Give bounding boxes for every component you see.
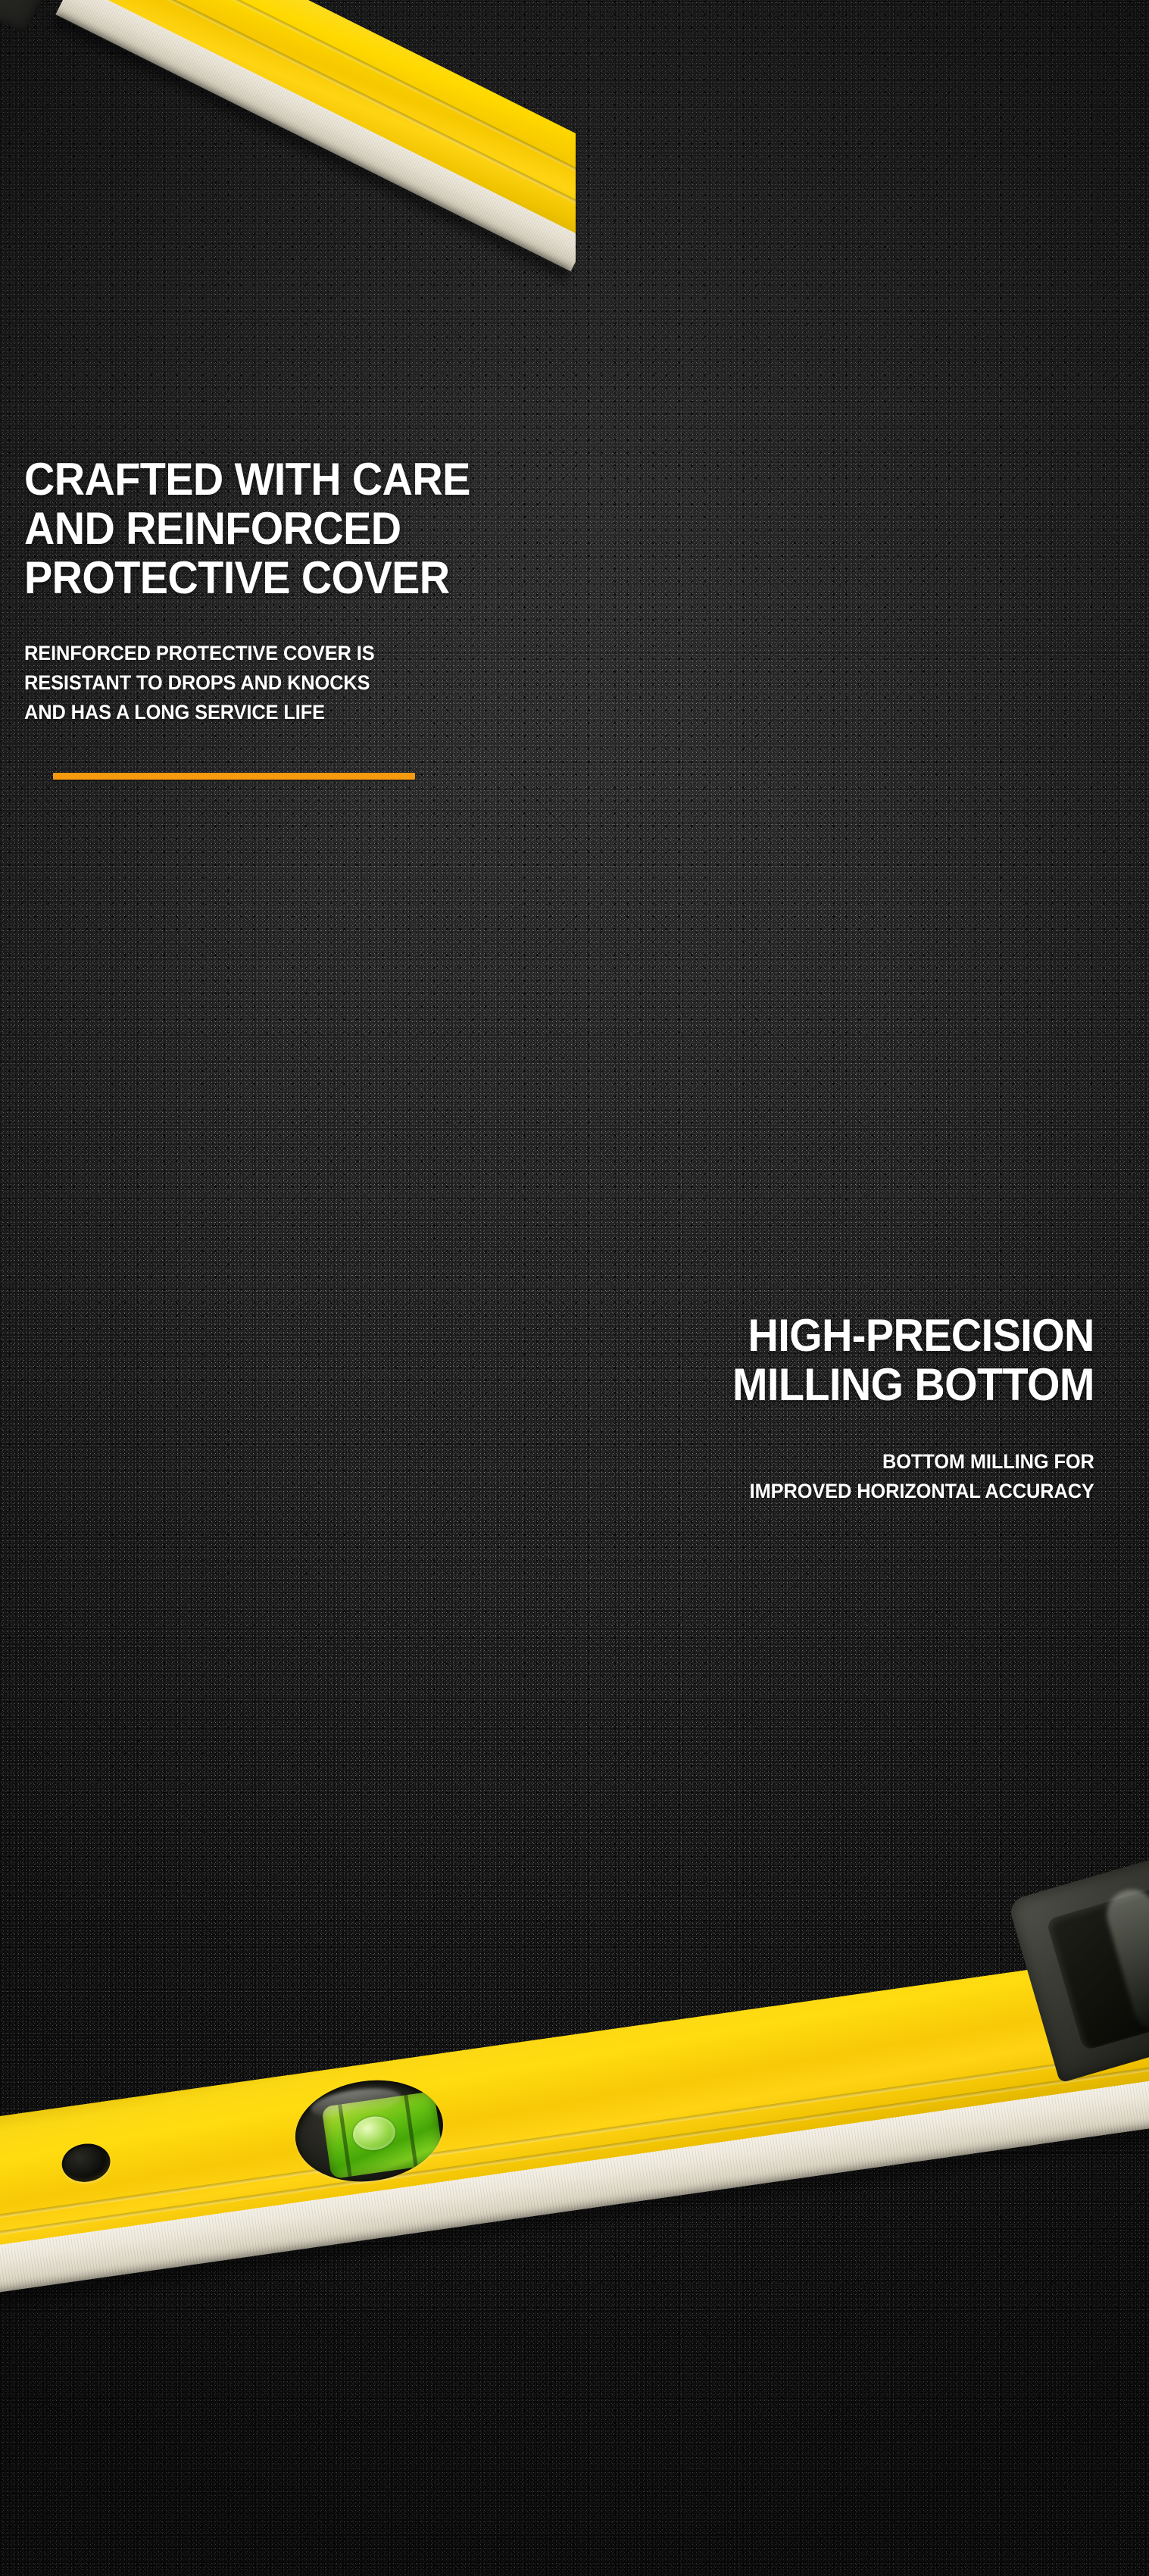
headline-group-left: CRAFTED WITH CARE AND REINFORCED PROTECT… xyxy=(24,455,504,602)
feature-block-milling-bottom: HIGH-PRECISION MILLING BOTTOM BOTTOM MIL… xyxy=(705,1311,1094,1506)
headline-line-2: AND REINFORCED xyxy=(24,504,470,553)
feature-block-protective-cover: CRAFTED WITH CARE AND REINFORCED PROTECT… xyxy=(24,455,504,780)
headline-line-1: HIGH-PRECISION xyxy=(732,1311,1094,1360)
level-body-bottom xyxy=(0,1939,1149,2310)
level-body-top xyxy=(45,0,576,288)
subtitle-line-1: REINFORCED PROTECTIVE COVER IS xyxy=(24,639,475,668)
subtitle-group-right: BOTTOM MILLING FOR IMPROVED HORIZONTAL A… xyxy=(705,1447,1094,1506)
accent-divider xyxy=(53,773,415,780)
subtitle-line-3: AND HAS A LONG SERVICE LIFE xyxy=(24,698,475,727)
subtitle-group-left: REINFORCED PROTECTIVE COVER IS RESISTANT… xyxy=(24,639,504,727)
spirit-level-bottom-photo xyxy=(0,1849,1149,2576)
subtitle-line-2: IMPROVED HORIZONTAL ACCURACY xyxy=(729,1477,1094,1506)
headline-line-2: MILLING BOTTOM xyxy=(732,1360,1094,1409)
spirit-level-top-photo xyxy=(0,0,576,288)
subtitle-line-2: RESISTANT TO DROPS AND KNOCKS xyxy=(24,668,475,698)
product-feature-banner: CRAFTED WITH CARE AND REINFORCED PROTECT… xyxy=(0,0,1149,2576)
subtitle-line-1: BOTTOM MILLING FOR xyxy=(729,1447,1094,1477)
headline-line-3: PROTECTIVE COVER xyxy=(24,553,470,602)
headline-line-1: CRAFTED WITH CARE xyxy=(24,455,470,504)
headline-group-right: HIGH-PRECISION MILLING BOTTOM xyxy=(705,1311,1094,1409)
